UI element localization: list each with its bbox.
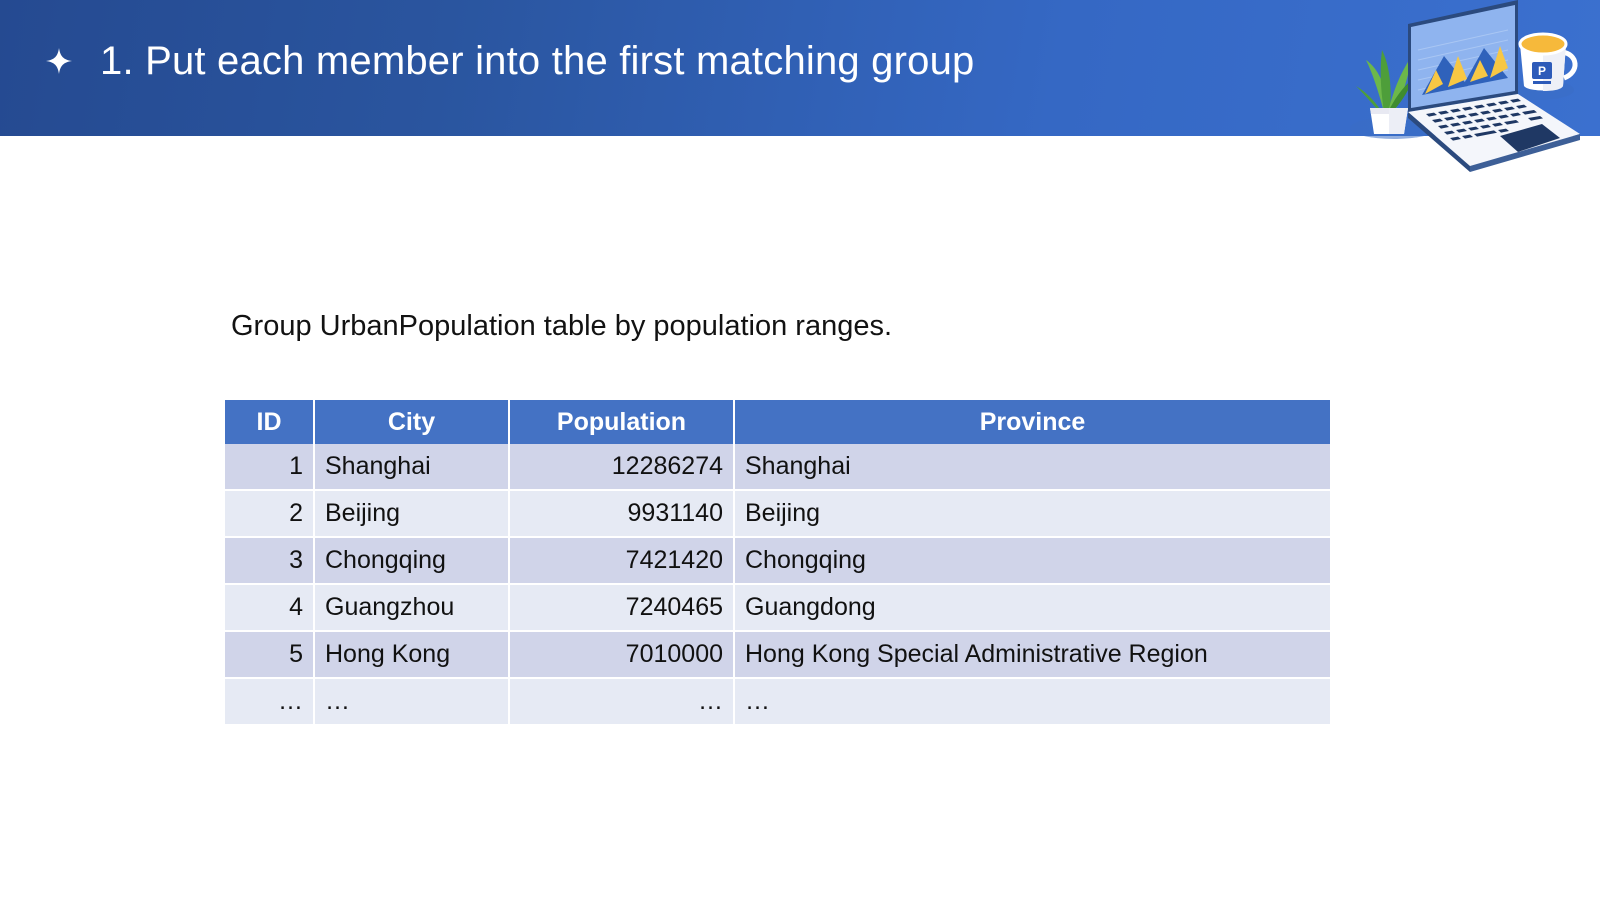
column-header-population[interactable]: Population bbox=[510, 400, 735, 444]
table-body: 1 Shanghai 12286274 Shanghai 2 Beijing 9… bbox=[225, 444, 1330, 726]
cell-city: Guangzhou bbox=[315, 585, 510, 632]
table-row: 3 Chongqing 7421420 Chongqing bbox=[225, 538, 1330, 585]
cell-population: 7240465 bbox=[510, 585, 735, 632]
table-row: 2 Beijing 9931140 Beijing bbox=[225, 491, 1330, 538]
cell-id: 2 bbox=[225, 491, 315, 538]
column-header-id[interactable]: ID bbox=[225, 400, 315, 444]
chart-on-screen-icon bbox=[1418, 30, 1508, 95]
cell-id: 3 bbox=[225, 538, 315, 585]
cell-city: Beijing bbox=[315, 491, 510, 538]
table-header-row: ID City Population Province bbox=[225, 400, 1330, 444]
slide-header-banner: 1. Put each member into the first matchi… bbox=[0, 0, 1600, 136]
coffee-mug-icon: P bbox=[1520, 34, 1575, 91]
cell-population: 12286274 bbox=[510, 444, 735, 491]
cell-province: Chongqing bbox=[735, 538, 1330, 585]
cell-id: … bbox=[225, 679, 315, 726]
sparkle-star-icon bbox=[44, 39, 74, 83]
banner-title-row: 1. Put each member into the first matchi… bbox=[44, 36, 974, 86]
table-row: 1 Shanghai 12286274 Shanghai bbox=[225, 444, 1330, 491]
column-header-city[interactable]: City bbox=[315, 400, 510, 444]
cell-id: 5 bbox=[225, 632, 315, 679]
cell-city: Shanghai bbox=[315, 444, 510, 491]
urban-population-table: ID City Population Province 1 Shanghai 1… bbox=[225, 400, 1330, 726]
mug-shadow-icon bbox=[1502, 80, 1574, 100]
column-header-province[interactable]: Province bbox=[735, 400, 1330, 444]
cell-population: 7421420 bbox=[510, 538, 735, 585]
cell-province: Hong Kong Special Administrative Region bbox=[735, 632, 1330, 679]
cell-province: Beijing bbox=[735, 491, 1330, 538]
svg-text:P: P bbox=[1538, 64, 1546, 78]
cell-province: Guangdong bbox=[735, 585, 1330, 632]
table-header: ID City Population Province bbox=[225, 400, 1330, 444]
cell-city: … bbox=[315, 679, 510, 726]
table-row-ellipsis: … … … … bbox=[225, 679, 1330, 726]
isometric-laptop-desk-illustration: P bbox=[1322, 0, 1600, 194]
potted-plant-icon bbox=[1356, 50, 1414, 134]
table-row: 5 Hong Kong 7010000 Hong Kong Special Ad… bbox=[225, 632, 1330, 679]
subtitle-text: Group UrbanPopulation table by populatio… bbox=[231, 306, 892, 346]
cell-id: 4 bbox=[225, 585, 315, 632]
plant-shadow-icon bbox=[1350, 117, 1438, 139]
cell-population: 9931140 bbox=[510, 491, 735, 538]
cell-population: 7010000 bbox=[510, 632, 735, 679]
cell-city: Chongqing bbox=[315, 538, 510, 585]
cell-population: … bbox=[510, 679, 735, 726]
cell-id: 1 bbox=[225, 444, 315, 491]
cell-city: Hong Kong bbox=[315, 632, 510, 679]
laptop-icon bbox=[1408, 0, 1580, 172]
cell-province: … bbox=[735, 679, 1330, 726]
page-title: 1. Put each member into the first matchi… bbox=[100, 36, 974, 86]
table-row: 4 Guangzhou 7240465 Guangdong bbox=[225, 585, 1330, 632]
cell-province: Shanghai bbox=[735, 444, 1330, 491]
mug-logo-icon bbox=[1532, 62, 1552, 79]
